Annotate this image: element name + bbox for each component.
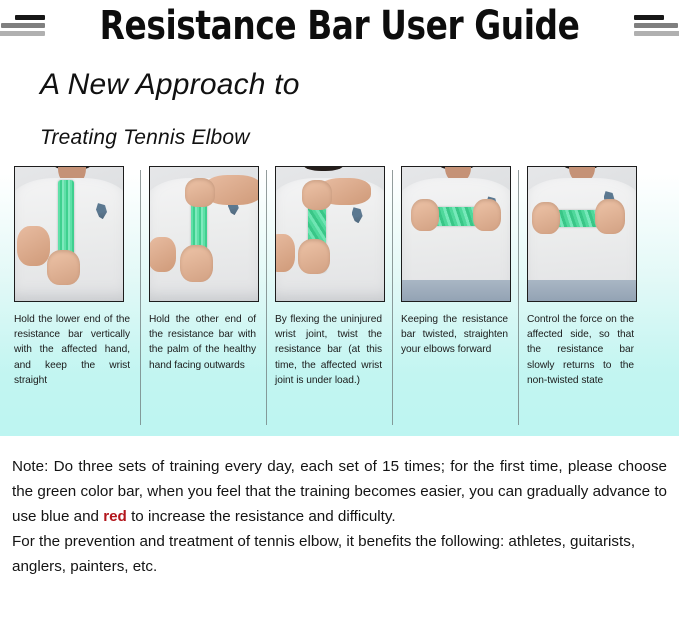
lower-hand-shape xyxy=(298,239,330,274)
steps-row: Hold the lower end of the resistance bar… xyxy=(0,157,679,388)
subtitle-line-2: Treating Tennis Elbow xyxy=(40,123,679,153)
left-arm-shape xyxy=(17,226,49,266)
step-caption: Control the force on the affected side, … xyxy=(527,312,636,388)
left-arm-shape xyxy=(149,237,176,272)
left-hand-shape xyxy=(532,202,560,234)
note-text-part-2: to increase the resistance and difficult… xyxy=(127,508,396,525)
note-paragraph-1: Note: Do three sets of training every da… xyxy=(12,454,667,529)
lower-hand-shape xyxy=(180,245,212,283)
page-title: Resistance Bar User Guide xyxy=(98,4,581,48)
subtitle-block: A New Approach to Treating Tennis Elbow xyxy=(0,52,679,157)
dash-bar-light xyxy=(0,31,45,36)
left-arm-shape xyxy=(275,234,295,272)
note-section: Note: Do three sets of training every da… xyxy=(0,436,679,579)
step-caption: By flexing the uninjured wrist joint, tw… xyxy=(275,312,384,388)
step-photo-3 xyxy=(275,166,385,302)
step-photo-5 xyxy=(527,166,637,302)
steps-panel: Hold the lower end of the resistance bar… xyxy=(0,157,679,436)
step-item: Keeping the resistance bar twisted, stra… xyxy=(392,166,510,388)
dash-bar-dark xyxy=(634,15,664,20)
upper-hand-shape xyxy=(185,178,215,207)
dash-bar-light xyxy=(634,31,679,36)
step-item: Control the force on the affected side, … xyxy=(518,166,636,388)
note-highlight-red: red xyxy=(103,508,127,525)
triple-dash-icon-left xyxy=(0,15,45,36)
jeans-shape xyxy=(528,280,636,301)
right-hand-shape xyxy=(595,199,625,234)
upper-hand-shape xyxy=(302,180,332,209)
step-photo-2 xyxy=(149,166,259,302)
step-item: By flexing the uninjured wrist joint, tw… xyxy=(266,166,384,388)
header-band: Resistance Bar User Guide xyxy=(0,0,679,52)
step-item: Hold the lower end of the resistance bar… xyxy=(14,166,132,388)
jeans-shape xyxy=(402,280,510,301)
dash-bar-dark xyxy=(15,15,45,20)
step-item: Hold the other end of the resistance bar… xyxy=(140,166,258,388)
step-caption: Hold the lower end of the resistance bar… xyxy=(14,312,132,388)
right-hand-shape xyxy=(473,199,501,231)
step-caption: Hold the other end of the resistance bar… xyxy=(149,312,258,373)
dash-bar-medium xyxy=(1,23,45,28)
step-caption: Keeping the resistance bar twisted, stra… xyxy=(401,312,510,358)
hand-shape xyxy=(47,250,79,285)
note-paragraph-2: For the prevention and treatment of tenn… xyxy=(12,529,667,579)
left-hand-shape xyxy=(411,199,439,231)
dash-bar-medium xyxy=(634,23,678,28)
step-photo-4 xyxy=(401,166,511,302)
triple-dash-icon-right xyxy=(634,15,679,36)
subtitle-line-1: A New Approach to xyxy=(40,66,679,104)
step-photo-1 xyxy=(14,166,124,302)
